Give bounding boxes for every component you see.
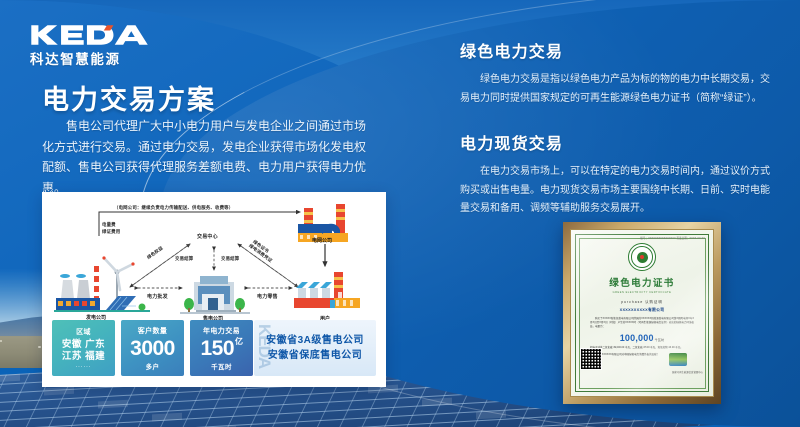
diagram-center-label: 交易中心 bbox=[197, 233, 218, 240]
diagram-left-note-2: 绿证费用 bbox=[102, 229, 120, 235]
stats-row: 区域 安徽 广东 江苏 福建 ...... 客户数量 3000 多户 年电力交易… bbox=[52, 320, 253, 376]
user-factory-illustration bbox=[290, 268, 364, 316]
diagram-settle-left: 交易结算 bbox=[175, 256, 193, 262]
section-heading-green-trading: 绿色电力交易 bbox=[460, 38, 778, 62]
power-generator-illustration bbox=[54, 250, 154, 320]
brand-subtitle: 科达智慧能源 bbox=[30, 48, 160, 68]
section-body-spot-trading: 在电力交易市场上，可以在特定的电力交易时间内，通过议价方式购买或出售电量。电力现… bbox=[460, 163, 778, 219]
stat-card-region: 区域 安徽 广东 江苏 福建 ...... bbox=[52, 320, 115, 376]
certificate-note: 相当于减排二氧化碳 49,000.00 千克、二氧化硫 47.00 千克、氮氧化… bbox=[590, 346, 694, 351]
stat-region-ellipsis: ...... bbox=[75, 363, 91, 369]
diagram-top-note: （电网公司：继续负责电力传输配送、供电服务、收费等） bbox=[114, 205, 233, 211]
certificate-seal-icon bbox=[628, 243, 656, 271]
diagram-node-grid: 电网公司 bbox=[312, 237, 332, 244]
stat-caption: 年电力交易 bbox=[203, 326, 240, 336]
stat-unit: 多户 bbox=[146, 361, 160, 371]
certificate-amount-wrap: 100,000千瓦时 bbox=[620, 333, 665, 343]
stat-value: 150 bbox=[200, 337, 234, 360]
panel-glint bbox=[422, 398, 452, 407]
region-name: 安徽 bbox=[62, 339, 82, 350]
diagram-left-note-1: 电量费 bbox=[102, 222, 116, 228]
certificate-company: XXXXXXXXXX有限公司 bbox=[620, 308, 665, 313]
certificate-issuer-logo-icon bbox=[669, 353, 687, 366]
certificate-title: 绿色电力证书 bbox=[609, 275, 674, 289]
stat-unit: 千瓦时 bbox=[211, 361, 232, 371]
certificate-paragraph: 购买了XXXXX新能源发电有限公司所属的XXXXXX新能源发电有限公司第X期风电… bbox=[590, 317, 694, 330]
badge-line-2: 安徽省保底售电公司 bbox=[268, 348, 363, 363]
stat-card-annual-volume: 年电力交易 150亿 千瓦时 bbox=[190, 320, 253, 376]
region-name: 福建 bbox=[85, 351, 105, 362]
right-content: 绿色电力交易 绿色电力交易是指以绿色电力产品为标的物的电力中长期交易，交易电力同… bbox=[460, 38, 778, 241]
stat-card-customers: 客户数量 3000 多户 bbox=[121, 320, 184, 376]
diagram-settle-right: 交易结算 bbox=[221, 256, 239, 262]
seal-core bbox=[637, 252, 648, 263]
certificate-frame: 编号：XXXXXXXXXXXXXXXX 签发日期：XXXX-XX-XX 绿色电力… bbox=[563, 222, 721, 404]
certificate-page: 编号：XXXXXXXXXXXXXXXX 签发日期：XXXX-XX-XX 绿色电力… bbox=[570, 229, 714, 397]
stat-value-wrap: 150亿 bbox=[200, 338, 242, 359]
page-title: 电力交易方案 bbox=[42, 78, 216, 117]
stat-caption: 客户数量 bbox=[138, 326, 168, 336]
certificate-amount-unit: 千瓦时 bbox=[655, 338, 665, 342]
diagram-retail-label: 电力零售 bbox=[257, 293, 278, 300]
stat-unit-inline: 亿 bbox=[235, 337, 243, 346]
diagram-card: （电网公司：继续负责电力传输配送、供电服务、收费等） 电量费 绿证费用 交易中心… bbox=[42, 192, 386, 387]
certificate-subtitle: purchase 认购证明 bbox=[621, 299, 662, 304]
section-body-green-trading: 绿色电力交易是指以绿色电力产品为标的物的电力中长期交易，交易电力同时提供国家规定… bbox=[460, 71, 778, 108]
brand-logo: 科达智慧能源 bbox=[30, 24, 160, 68]
diagram-wholesale-label: 电力批发 bbox=[147, 293, 168, 300]
retailer-illustration bbox=[180, 272, 250, 318]
poster-canvas: 科达智慧能源 电力交易方案 售电公司代理广大中小电力用户与发电企业之间通过市场化… bbox=[0, 0, 800, 427]
certificate-issuer: 国家可再生能源信息管理中心 bbox=[672, 370, 703, 374]
stat-value: 3000 bbox=[130, 338, 175, 359]
certificate-qr-code bbox=[580, 348, 602, 370]
certificate-title-en: GREEN ELECTRICITY CERTIFICATE bbox=[613, 291, 672, 294]
stat-regions: 安徽 广东 江苏 福建 bbox=[62, 339, 105, 363]
market-flow-diagram: （电网公司：继续负责电力传输配送、供电服务、收费等） 电量费 绿证费用 交易中心… bbox=[42, 192, 386, 332]
certificate-amount: 100,000 bbox=[620, 333, 654, 343]
qualification-badge: KEDA 安徽省3A级售电公司 安徽省保底售电公司 bbox=[254, 320, 376, 376]
stat-caption: 区域 bbox=[76, 327, 91, 337]
region-name: 江苏 bbox=[62, 351, 82, 362]
section-heading-spot-trading: 电力现货交易 bbox=[460, 130, 778, 154]
intro-paragraph: 售电公司代理广大中小电力用户与发电企业之间通过市场化方式进行交易。通过电力交易，… bbox=[42, 116, 372, 199]
keda-wordmark-icon bbox=[30, 24, 159, 46]
badge-line-1: 安徽省3A级售电公司 bbox=[266, 333, 364, 348]
region-name: 广东 bbox=[85, 339, 105, 350]
